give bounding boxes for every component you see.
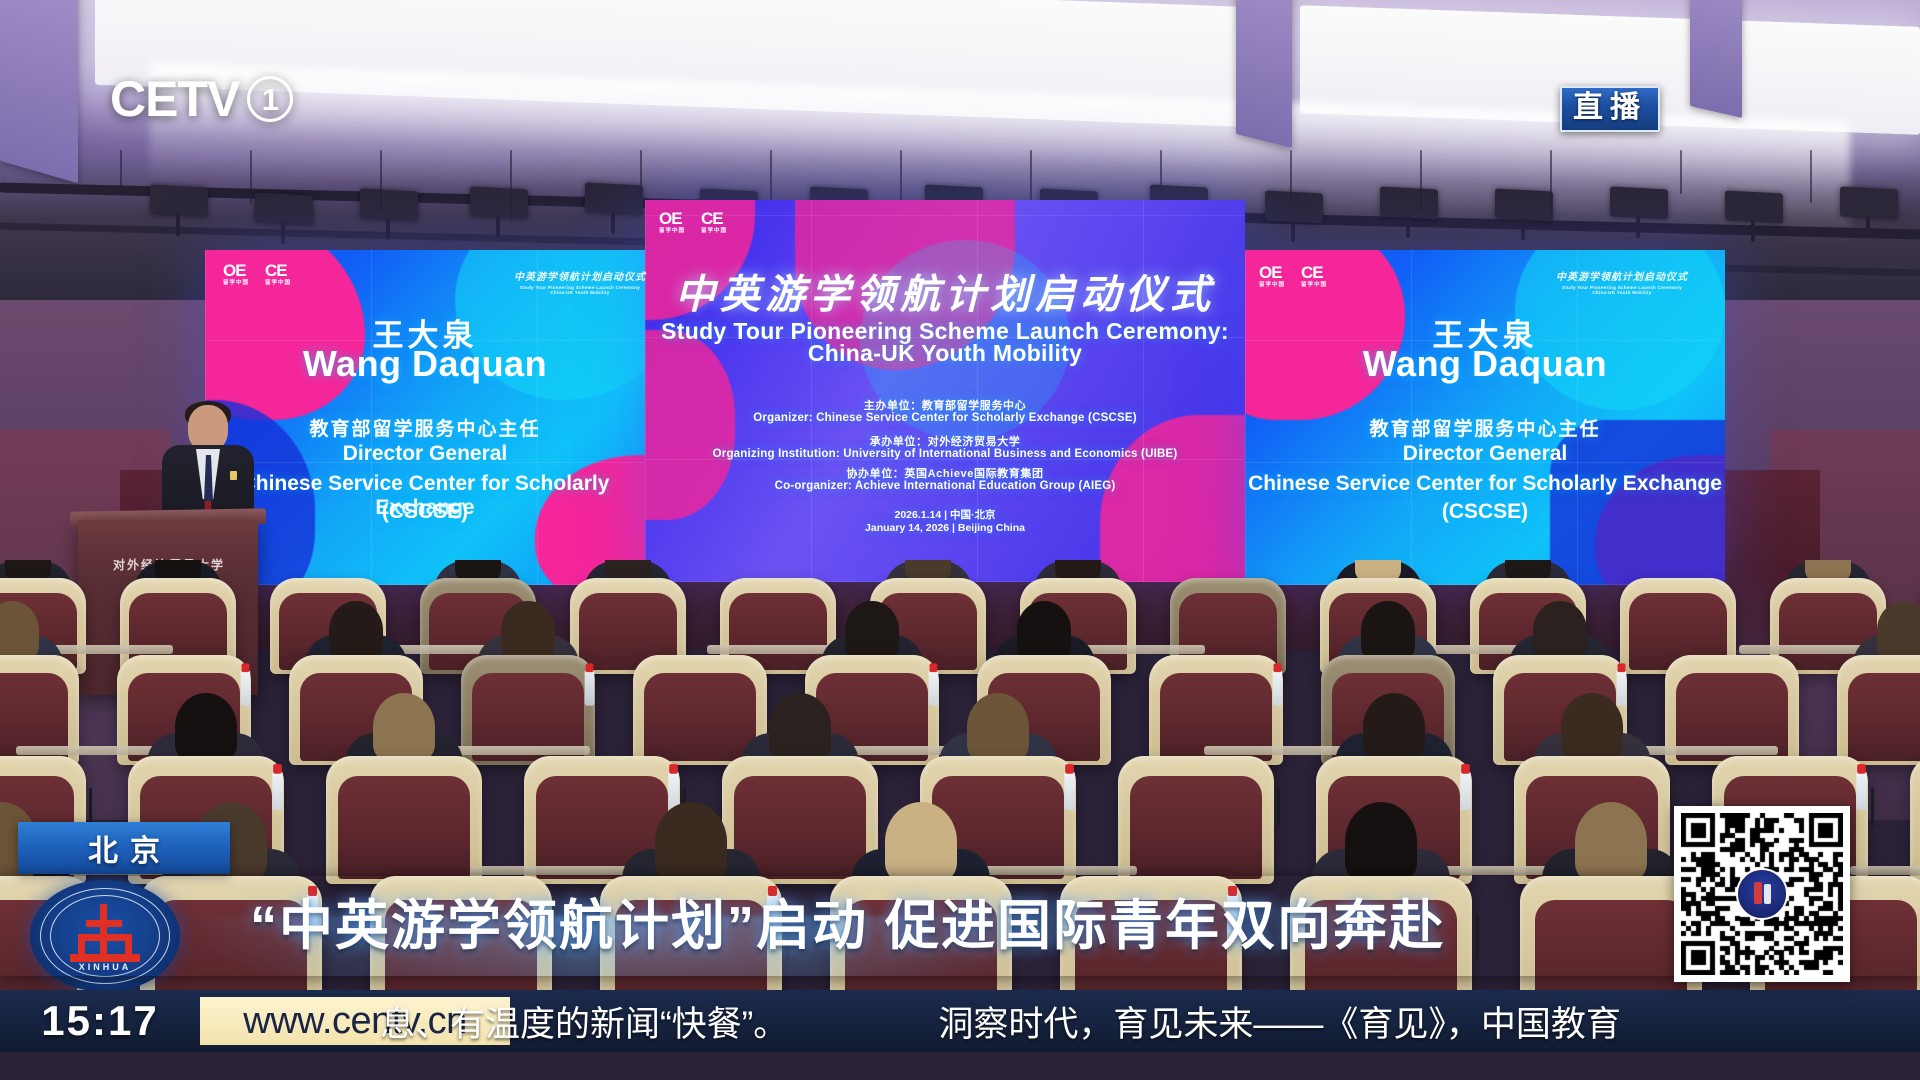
- speaker-name-en: Wang Daquan: [1245, 343, 1725, 385]
- speaker-name-en: Wang Daquan: [205, 343, 645, 385]
- oe-logo-subtext: 留学中国: [659, 229, 685, 235]
- ceremony-title-en-line2: China-UK Youth Mobility: [645, 340, 1245, 367]
- clock: 15:17: [0, 997, 200, 1045]
- location-badge: 北京: [18, 822, 230, 874]
- ticker-text: 息、有温度的新闻“快餐”。洞察时代，育见未来——《育见》，中国教育: [380, 996, 1920, 1047]
- ce-logo: CE 留学中国: [701, 210, 727, 235]
- host-institution-cn: 承办单位：对外经济贸易大学: [645, 433, 1245, 449]
- headline-text: “中英游学领航计划”启动 促进国际青年双向奔赴: [0, 876, 1920, 976]
- speaker-lapel-pin: [230, 471, 237, 480]
- ce-logo-text: CE: [701, 209, 723, 228]
- screen-corner-logos: OE 留学中国 CE 留学中国: [1259, 264, 1327, 289]
- oe-logo-text: OE: [1259, 263, 1282, 282]
- screen-corner-logos: OE 留学中国 CE 留学中国: [223, 262, 291, 287]
- co-organizer-en: Co-organizer: Achieve International Educ…: [645, 480, 1245, 492]
- ticker-segment-2: 洞察时代，育见未来——《育见》，中国教育: [938, 1005, 1621, 1044]
- oe-logo-subtext: 留学中国: [223, 281, 249, 287]
- ce-logo: CE 留学中国: [265, 262, 291, 287]
- speaker-role-cn: 教育部留学服务中心主任: [205, 414, 645, 441]
- ceiling-beam: [1690, 0, 1742, 118]
- oe-logo-subtext: 留学中国: [1259, 283, 1285, 289]
- corner-title-cn: 中英游学领航计划启动仪式: [1537, 268, 1707, 283]
- oe-logo-text: OE: [659, 209, 682, 228]
- ticker-segment-1: 息、有温度的新闻“快餐”。: [380, 1005, 788, 1044]
- center-screen-corner-logos: OE 留学中国 CE 留学中国: [659, 210, 727, 235]
- corner-title-cn: 中英游学领航计划启动仪式: [505, 268, 655, 283]
- corner-title-en2: China-UK Youth Mobility: [505, 290, 655, 295]
- host-institution-en: Organizing Institution: University of In…: [645, 448, 1245, 460]
- speaker-org-abbr: (CSCSE): [1245, 500, 1725, 524]
- speaker-org-en: Chinese Service Center for Scholarly Exc…: [1245, 472, 1725, 496]
- oe-logo: OE 留学中国: [1259, 264, 1285, 289]
- event-date-cn: 2026.1.14 | 中国·北京: [645, 507, 1245, 522]
- ceiling-beam: [1236, 0, 1292, 148]
- channel-logo: CETV 1: [110, 74, 293, 124]
- speaker-role-en: Director General: [1245, 442, 1725, 466]
- ce-logo-text: CE: [1301, 263, 1323, 282]
- speaker-org-abbr: (CSCSE): [205, 500, 645, 524]
- news-ticker-bar: 15:17 www.centv.cn 息、有温度的新闻“快餐”。洞察时代，育见未…: [0, 990, 1920, 1052]
- led-screen-left: OE 留学中国 CE 留学中国 王大泉 Wang Daquan 教育部留学服务中…: [205, 250, 645, 585]
- screen-corner-event-logo: 中英游学领航计划启动仪式 Study Tour Pioneering Schem…: [1537, 268, 1707, 295]
- headline-bar: “中英游学领航计划”启动 促进国际青年双向奔赴: [0, 876, 1920, 976]
- left-screen-corner-event-logo: 中英游学领航计划启动仪式 Study Tour Pioneering Schem…: [505, 268, 655, 295]
- speaker-role-cn: 教育部留学服务中心主任: [1245, 414, 1725, 441]
- broadcast-frame: OE 留学中国 CE 留学中国 王大泉 Wang Daquan 教育部留学服务中…: [0, 0, 1920, 1080]
- co-organizer-cn: 协办单位：英国Achieve国际教育集团: [645, 465, 1245, 481]
- event-date-en: January 14, 2026 | Beijing China: [645, 522, 1245, 534]
- led-screen-right: OE 留学中国 CE 留学中国 中英游学领航计划启动仪式 Study Tour …: [1245, 250, 1725, 585]
- channel-logo-text: CETV: [110, 74, 239, 124]
- live-badge: 直播: [1560, 86, 1660, 132]
- ce-logo-subtext: 留学中国: [701, 229, 727, 235]
- ce-logo-text: CE: [265, 261, 287, 280]
- ceremony-title-cn: 中英游学领航计划启动仪式: [645, 262, 1245, 320]
- ce-logo-subtext: 留学中国: [1301, 283, 1327, 289]
- corner-title-en2: China-UK Youth Mobility: [1537, 290, 1707, 295]
- oe-logo: OE 留学中国: [223, 262, 249, 287]
- oe-logo: OE 留学中国: [659, 210, 685, 235]
- ce-logo-subtext: 留学中国: [265, 281, 291, 287]
- led-screen-center: OE 留学中国 CE 留学中国 中英游学领航计划启动仪式 Study Tour …: [645, 200, 1245, 582]
- organizer-en: Organizer: Chinese Service Center for Sc…: [645, 412, 1245, 424]
- ce-logo: CE 留学中国: [1301, 264, 1327, 289]
- oe-logo-text: OE: [223, 261, 246, 280]
- organizer-cn: 主办单位：教育部留学服务中心: [645, 397, 1245, 413]
- channel-number-badge: 1: [247, 76, 293, 122]
- speaker-role-en: Director General: [205, 442, 645, 466]
